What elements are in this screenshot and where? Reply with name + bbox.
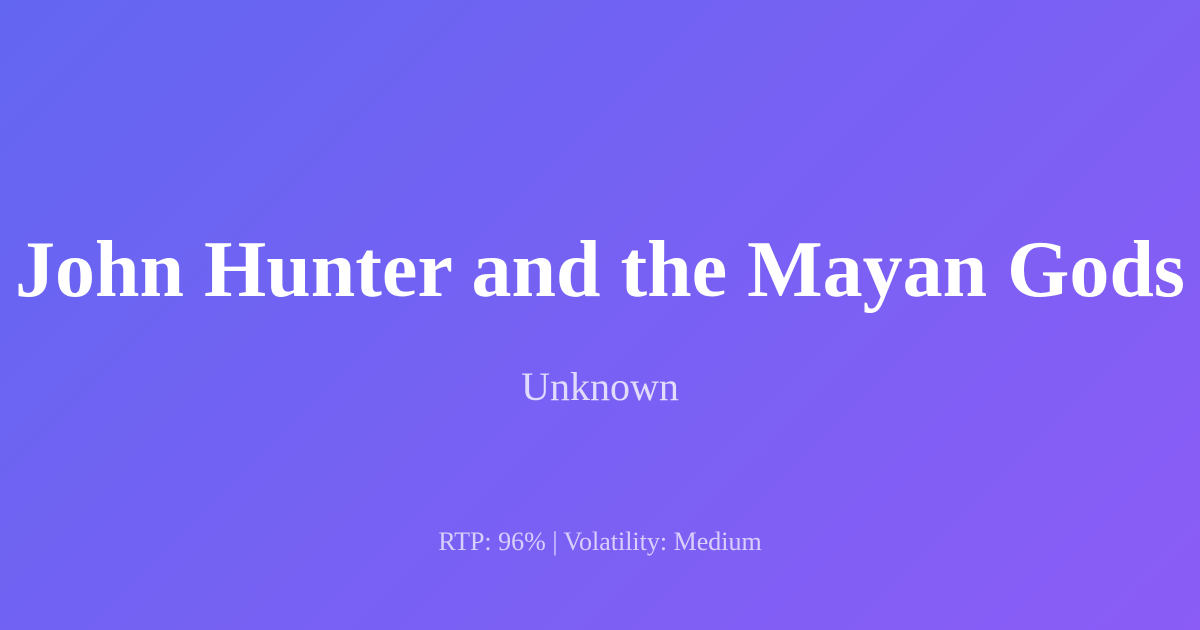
game-provider-subtitle: Unknown: [0, 360, 1200, 414]
game-meta-line: RTP: 96% | Volatility: Medium: [0, 525, 1200, 559]
game-title: John Hunter and the Mayan Gods: [15, 222, 1185, 318]
og-share-card: John Hunter and the Mayan Gods Unknown R…: [0, 0, 1200, 630]
